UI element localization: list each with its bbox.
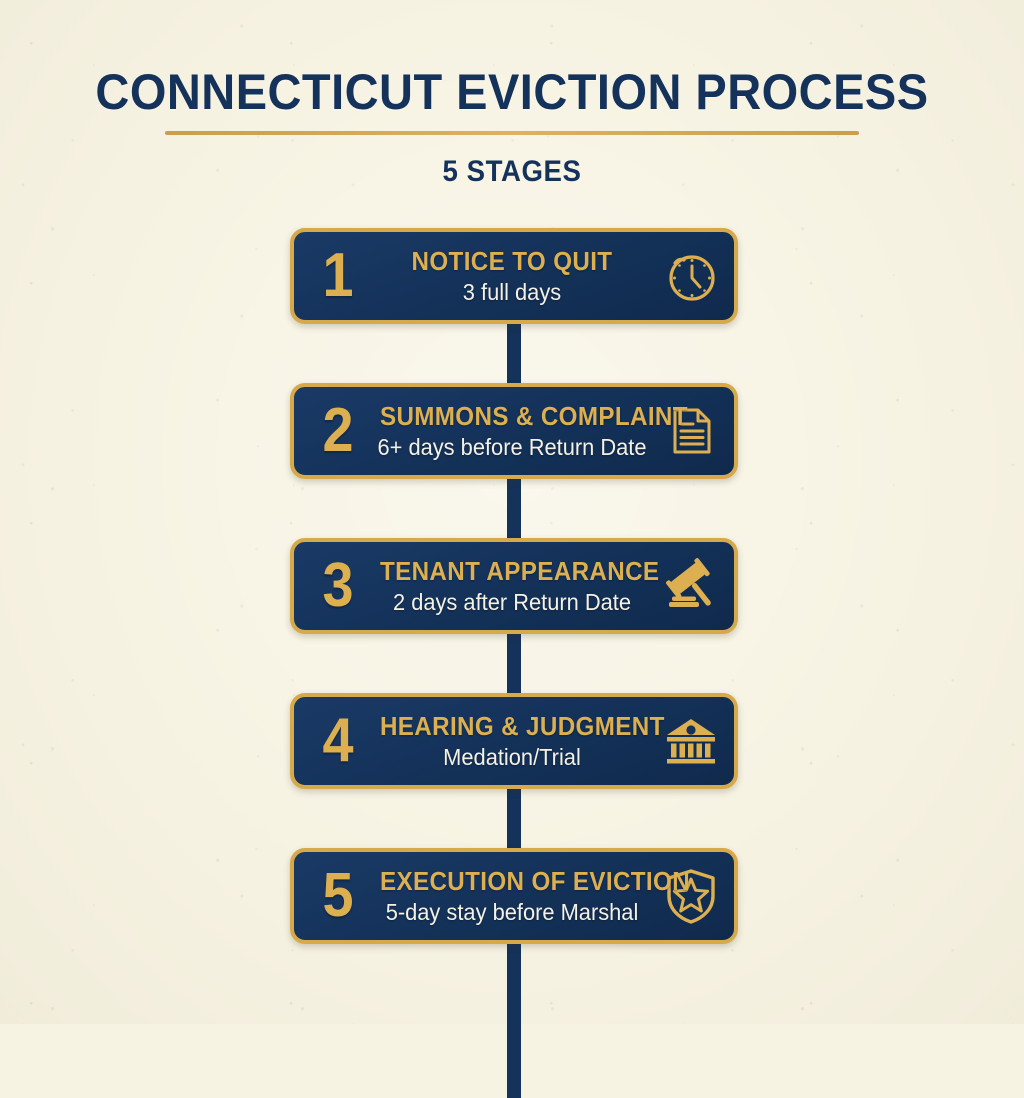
gavel-icon [658,553,724,619]
title-underline-divider [165,131,859,135]
stage-card-5[interactable]: 5 EXECUTION OF EVICTION 5-day stay befor… [290,848,738,944]
stage-text: HEARING & JUDGMENT Medation/Trial [366,712,658,770]
stage-subtitle: 2 days after Return Date [377,589,647,615]
stage-number: 3 [313,555,363,617]
stage-number: 1 [313,245,363,307]
clock-icon [658,243,724,309]
stage-text: SUMMONS & COMPLAINT 6+ days before Retur… [366,402,658,460]
stage-title: HEARING & JUDGMENT [380,712,644,741]
stage-subtitle: 5-day stay before Marshal [377,899,647,925]
header: CONNECTICUT EVICTION PROCESS 5 STAGES [0,64,1024,189]
stage-title: NOTICE TO QUIT [380,247,644,276]
stage-card-2[interactable]: 2 SUMMONS & COMPLAINT 6+ days before Ret… [290,383,738,479]
courthouse-icon [658,708,724,774]
stage-card-3[interactable]: 3 TENANT APPEARANCE 2 days after Return … [290,538,738,634]
stage-number: 4 [313,710,363,772]
stage-card-4[interactable]: 4 HEARING & JUDGMENT Medation/Trial [290,693,738,789]
stage-title: SUMMONS & COMPLAINT [380,402,644,431]
page-title: CONNECTICUT EVICTION PROCESS [31,64,994,120]
stage-subtitle: Medation/Trial [377,744,647,770]
stage-text: NOTICE TO QUIT 3 full days [366,247,658,305]
stage-title: TENANT APPEARANCE [380,557,644,586]
page-subtitle: 5 STAGES [41,155,983,189]
stage-subtitle: 3 full days [377,279,647,305]
stage-subtitle: 6+ days before Return Date [377,434,647,460]
eviction-process-flow: 1 NOTICE TO QUIT 3 full days 2 [290,228,738,944]
stage-title: EXECUTION OF EVICTION [380,867,644,896]
stage-text: TENANT APPEARANCE 2 days after Return Da… [366,557,658,615]
stage-text: EXECUTION OF EVICTION 5-day stay before … [366,867,658,925]
stage-number: 5 [313,865,363,927]
stage-card-1[interactable]: 1 NOTICE TO QUIT 3 full days [290,228,738,324]
stage-number: 2 [313,400,363,462]
